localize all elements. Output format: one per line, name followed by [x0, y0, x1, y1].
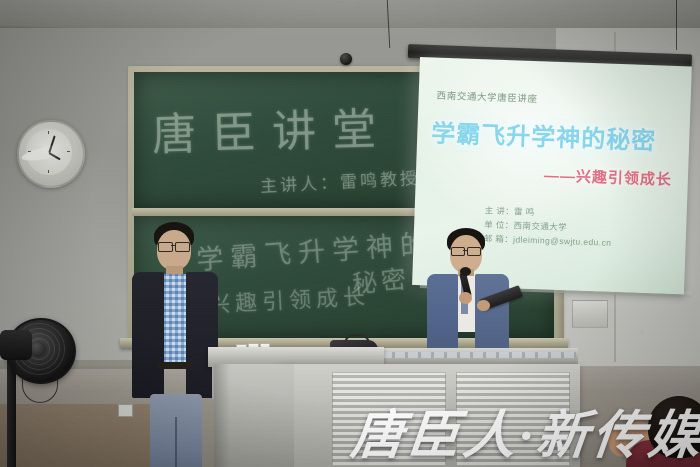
glasses-bridge: [171, 245, 175, 246]
fan-hub: [30, 341, 46, 357]
leg-seam: [175, 417, 177, 467]
desk-rail: [382, 352, 576, 358]
wall-screw: [640, 330, 644, 334]
fan-motor-housing: [0, 330, 32, 360]
belt: [158, 362, 191, 369]
wall-control-panel: [572, 300, 608, 328]
wall-screw: [56, 176, 60, 180]
glasses-bridge: [463, 250, 467, 251]
ceiling-sensor-dome-icon: [340, 53, 352, 65]
microphone-head: [460, 267, 471, 276]
lectern-shadow: [214, 364, 230, 467]
slide-eyebrow-text: 西南交通大学唐臣讲座: [436, 88, 537, 106]
wall-clock: [17, 120, 85, 188]
glasses-icon: [158, 242, 173, 252]
hand-holding-microphone: [459, 292, 472, 304]
ceiling: [0, 0, 700, 30]
blazer-left: [132, 272, 164, 398]
glasses-icon: [175, 242, 190, 252]
screen-support-wire: [676, 0, 677, 50]
person-left-man: [130, 222, 222, 467]
slide-subtitle-text: ——兴趣引领成长: [544, 164, 673, 189]
glasses-icon: [467, 247, 481, 256]
glasses-icon: [451, 247, 465, 256]
slide-title-text: 学霸飞升学神的秘密: [431, 113, 657, 156]
watermark-text: 唐臣人·新传媒: [348, 393, 700, 467]
hand-holding-tablet: [477, 300, 490, 311]
lecture-hall-photo: 唐臣讲堂 主讲人：雷鸣教授 学霸飞升学神的 秘密 兴趣引领成长 西南交通大学唐臣…: [0, 0, 700, 467]
